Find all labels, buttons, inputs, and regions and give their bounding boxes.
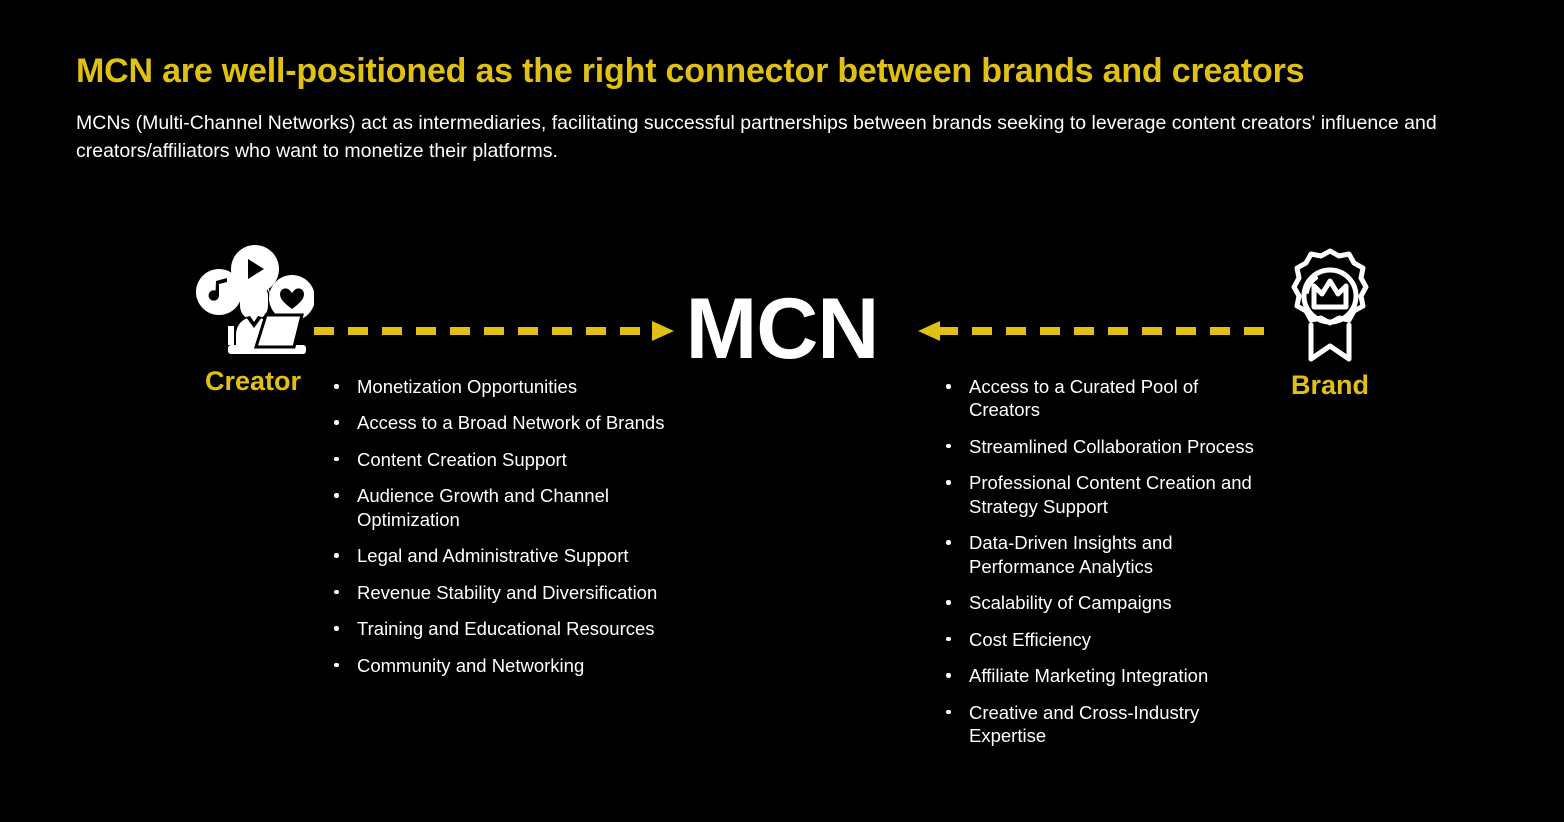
page-subtitle: MCNs (Multi-Channel Networks) act as int… (76, 109, 1451, 166)
page-title: MCN are well-positioned as the right con… (76, 52, 1496, 91)
brand-benefits-column: Access to a Curated Pool of CreatorsStre… (942, 375, 1272, 761)
creator-benefits-column: Monetization OpportunitiesAccess to a Br… (330, 375, 690, 690)
list-item: Streamlined Collaboration Process (942, 435, 1272, 458)
list-item: Monetization Opportunities (330, 375, 690, 398)
list-item: Scalability of Campaigns (942, 591, 1272, 614)
list-item: Access to a Curated Pool of Creators (942, 375, 1272, 422)
award-badge-crown-icon (1245, 246, 1415, 366)
list-item: Legal and Administrative Support (330, 544, 690, 567)
diagram-node-label-creator: Creator (168, 368, 338, 395)
brand-benefits-list: Access to a Curated Pool of CreatorsStre… (942, 375, 1272, 748)
list-item: Audience Growth and Channel Optimization (330, 484, 690, 531)
list-item: Professional Content Creation and Strate… (942, 471, 1272, 518)
list-item: Training and Educational Resources (330, 617, 690, 640)
list-item: Content Creation Support (330, 448, 690, 471)
slide-header: MCN are well-positioned as the right con… (76, 52, 1496, 166)
list-item: Data-Driven Insights and Performance Ana… (942, 531, 1272, 578)
list-item: Creative and Cross-Industry Expertise (942, 701, 1272, 748)
flow-diagram: Creator MCN (0, 238, 1564, 398)
list-item: Cost Efficiency (942, 628, 1272, 651)
creator-benefits-list: Monetization OpportunitiesAccess to a Br… (330, 375, 690, 677)
list-item: Community and Networking (330, 654, 690, 677)
list-item: Revenue Stability and Diversification (330, 581, 690, 604)
list-item: Access to a Broad Network of Brands (330, 411, 690, 434)
list-item: Affiliate Marketing Integration (942, 664, 1272, 687)
